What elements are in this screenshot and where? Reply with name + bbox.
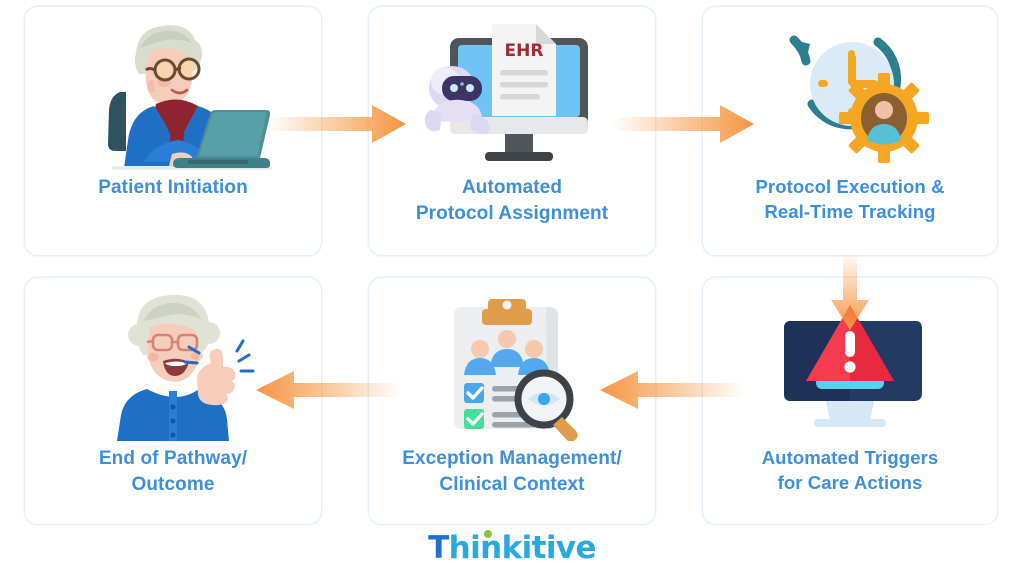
robot-with-ehr-monitor-icon: EHR (369, 7, 655, 175)
arrow-left-icon (256, 366, 402, 414)
card-title-line1: Automated Triggers (762, 446, 939, 471)
card-title-line1: Exception Management/ (402, 446, 622, 472)
card-title-line2: Protocol Assignment (416, 201, 608, 227)
card-title-line1: Automated (416, 175, 608, 201)
thinkitive-logo: Thinkitive (0, 533, 1024, 564)
card-title: Automated Triggers for Care Actions (752, 446, 949, 496)
card-title: Automated Protocol Assignment (406, 175, 618, 226)
card-title: End of Pathway/ Outcome (89, 446, 257, 497)
card-title-line2: Real-Time Tracking (755, 200, 944, 225)
card-title: Exception Management/ Clinical Context (392, 446, 632, 497)
card-title-line2: Outcome (99, 472, 247, 498)
ehr-screen-label: EHR (505, 41, 544, 61)
card-title-line1: Protocol Execution & (755, 175, 944, 200)
arrow-right-icon (268, 100, 406, 148)
card-title-line2: for Care Actions (762, 471, 939, 496)
clock-gear-user-icon (703, 7, 997, 175)
card-title: Patient Initiation (88, 175, 258, 201)
card-title-line2: Clinical Context (402, 472, 622, 498)
arrow-right-icon (612, 100, 754, 148)
clipboard-patients-magnifier-icon (369, 278, 655, 446)
arrow-down-icon (826, 252, 874, 330)
logo-initial: T (428, 530, 449, 566)
logo-rest: hinkitive (449, 530, 596, 566)
card-title: Protocol Execution & Real-Time Tracking (745, 175, 954, 225)
card-title-line1: Patient Initiation (98, 177, 248, 198)
elderly-woman-thumbs-up-icon (25, 278, 321, 446)
workflow-diagram: Patient Initiation EHR (0, 0, 1024, 576)
card-title-line1: End of Pathway/ (99, 446, 247, 472)
arrow-left-icon (600, 366, 746, 414)
elderly-woman-at-laptop-icon (25, 7, 321, 175)
